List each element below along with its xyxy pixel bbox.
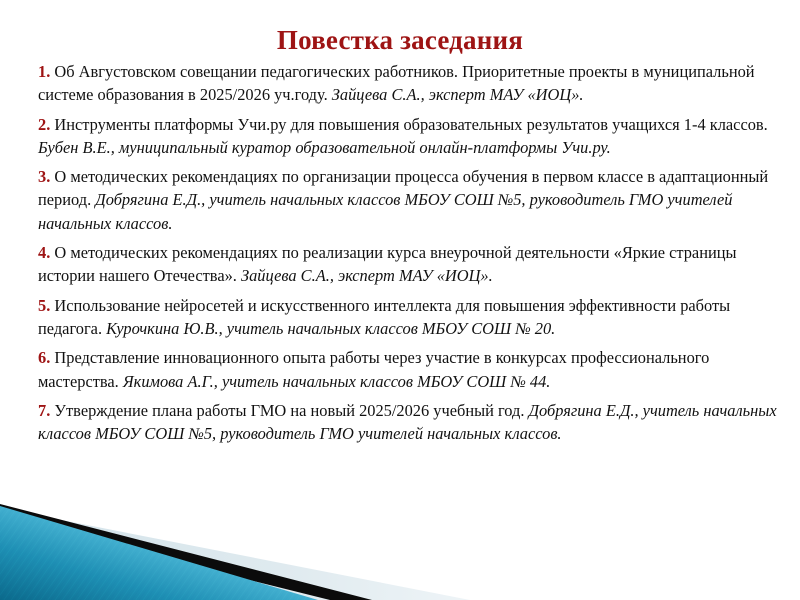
agenda-item-number: 3. bbox=[38, 167, 50, 186]
agenda-item-topic: Инструменты платформы Учи.ру для повышен… bbox=[54, 115, 767, 134]
agenda-item-speaker: Якимова А.Г., учитель начальных классов … bbox=[123, 372, 551, 391]
agenda-item-speaker: Зайцева С.А., эксперт МАУ «ИОЦ». bbox=[241, 266, 493, 285]
black-diagonal-band bbox=[0, 504, 372, 600]
agenda-item: 7. Утверждение плана работы ГМО на новый… bbox=[38, 399, 788, 446]
teal-diagonal-band bbox=[0, 506, 318, 600]
agenda-item-number: 1. bbox=[38, 62, 50, 81]
agenda-item-number: 2. bbox=[38, 115, 50, 134]
page-title: Повестка заседания bbox=[0, 24, 800, 56]
agenda-item-number: 7. bbox=[38, 401, 50, 420]
agenda-item: 6. Представление инновационного опыта ра… bbox=[38, 346, 788, 393]
agenda-item: 2. Инструменты платформы Учи.ру для повы… bbox=[38, 113, 788, 160]
agenda-item-speaker: Добрягина Е.Д., учитель начальных классо… bbox=[38, 190, 732, 232]
agenda-item-number: 4. bbox=[38, 243, 50, 262]
agenda-item: 5. Использование нейросетей и искусствен… bbox=[38, 294, 788, 341]
agenda-item-speaker: Зайцева С.А., эксперт МАУ «ИОЦ». bbox=[332, 85, 584, 104]
agenda-list: 1. Об Августовском совещании педагогичес… bbox=[38, 60, 788, 451]
decorative-diagonal-bands bbox=[0, 490, 800, 600]
agenda-item-speaker: Бубен В.Е., муниципальный куратор образо… bbox=[38, 138, 611, 157]
agenda-item: 3. О методических рекомендациях по орган… bbox=[38, 165, 788, 235]
agenda-item: 1. Об Августовском совещании педагогичес… bbox=[38, 60, 788, 107]
agenda-item-number: 6. bbox=[38, 348, 50, 367]
agenda-item-topic: Утверждение плана работы ГМО на новый 20… bbox=[54, 401, 528, 420]
agenda-item-number: 5. bbox=[38, 296, 50, 315]
agenda-item-speaker: Курочкина Ю.В., учитель начальных классо… bbox=[106, 319, 555, 338]
pale-diagonal-band bbox=[0, 508, 470, 600]
agenda-item: 4. О методических рекомендациях по реали… bbox=[38, 241, 788, 288]
slide-canvas: Повестка заседания 1. Об Августовском со… bbox=[0, 0, 800, 600]
